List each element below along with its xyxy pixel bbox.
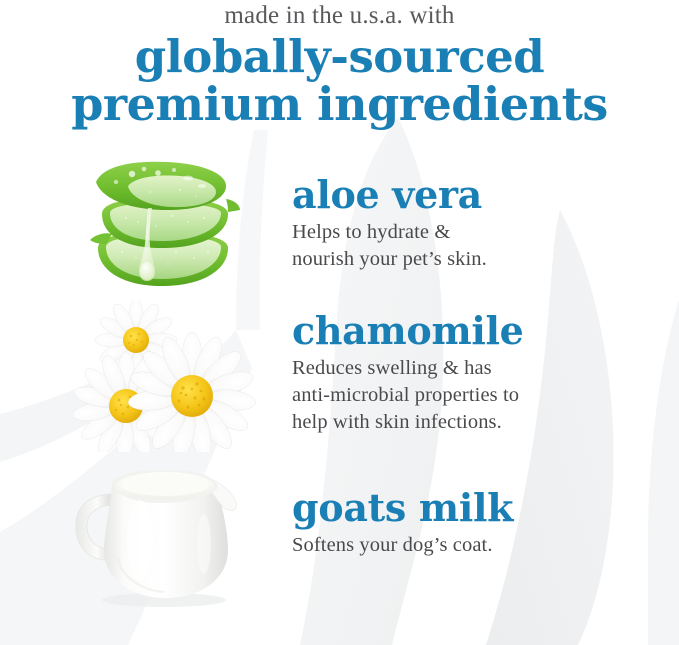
description-line: help with skin infections. <box>292 409 524 436</box>
description-line: nourish your pet’s skin. <box>292 246 487 273</box>
header-block: made in the u.s.a. with globally-sourced… <box>0 0 679 127</box>
row-text-block: chamomile Reduces swelling & has anti-mi… <box>271 312 524 436</box>
description-line: Helps to hydrate & <box>292 219 487 246</box>
description-line: Softens your dog’s coat. <box>292 532 513 559</box>
ingredient-description-chamomile: Reduces swelling & has anti-microbial pr… <box>292 355 524 436</box>
ingredient-name-goats-milk: goats milk <box>292 489 513 527</box>
chamomile-flowers-photo <box>74 300 258 452</box>
headline-line-2: premium ingredients <box>0 82 679 127</box>
ingredients-infographic: made in the u.s.a. with globally-sourced… <box>0 0 679 645</box>
header-kicker: made in the u.s.a. with <box>0 2 679 30</box>
ingredient-description-aloe-vera: Helps to hydrate & nourish your pet’s sk… <box>292 219 487 273</box>
ingredient-row-chamomile: chamomile Reduces swelling & has anti-mi… <box>268 312 524 450</box>
aloe-vera-slices-photo <box>76 152 256 292</box>
description-line: Reduces swelling & has <box>292 355 524 382</box>
ingredient-name-chamomile: chamomile <box>292 312 524 350</box>
milk-pitcher-photo <box>58 448 258 612</box>
description-line: anti-microbial properties to <box>292 382 524 409</box>
ingredient-name-aloe-vera: aloe vera <box>292 176 487 214</box>
ingredient-row-goats-milk: goats milk Softens your dog’s coat. <box>268 489 513 570</box>
ingredient-row-aloe-vera: aloe vera Helps to hydrate & nourish you… <box>268 176 487 286</box>
row-text-block: goats milk Softens your dog’s coat. <box>271 489 513 559</box>
headline-line-1: globally-sourced <box>0 34 679 79</box>
ingredient-description-goats-milk: Softens your dog’s coat. <box>292 532 513 559</box>
row-text-block: aloe vera Helps to hydrate & nourish you… <box>271 176 487 273</box>
